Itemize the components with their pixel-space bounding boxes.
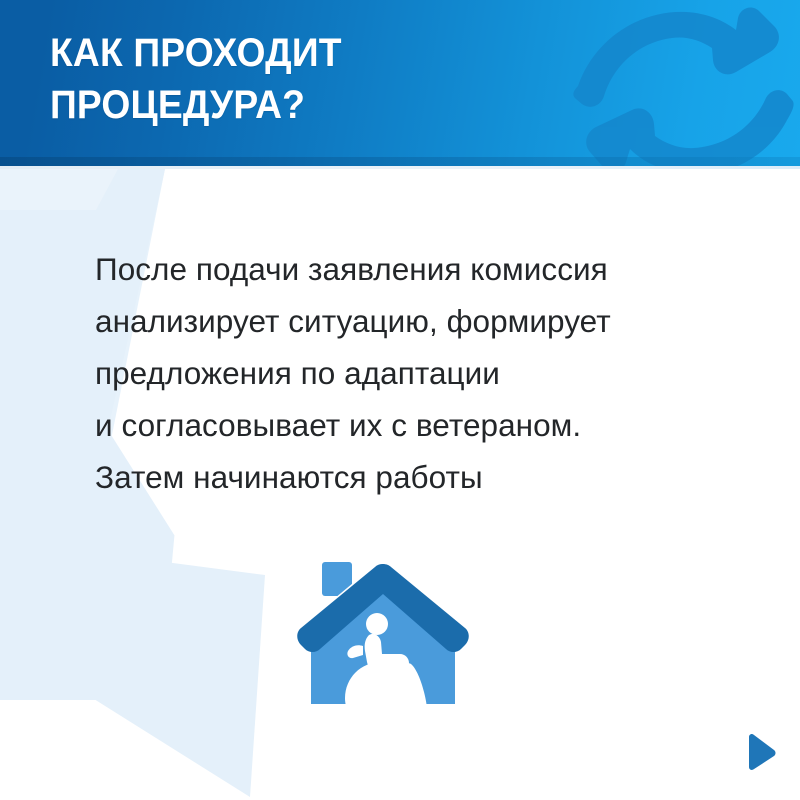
header-bottom-shade xyxy=(0,157,800,166)
body-paragraph: После подачи заявления комиссия анализир… xyxy=(95,243,715,503)
header-band: КАК ПРОХОДИТ ПРОЦЕДУРА? xyxy=(0,0,800,166)
page-title: КАК ПРОХОДИТ ПРОЦЕДУРА? xyxy=(50,27,534,131)
decor-notch-white xyxy=(150,497,265,800)
header-hairline xyxy=(0,166,800,169)
decor-wedge-bottom xyxy=(0,600,250,797)
accessible-house-icon xyxy=(297,552,469,714)
next-slide-button[interactable] xyxy=(742,732,778,772)
decor-sliver-top xyxy=(0,169,118,210)
decor-wedge-bottom-tail xyxy=(120,560,265,797)
slide-root: КАК ПРОХОДИТ ПРОЦЕДУРА? После подачи зая… xyxy=(0,0,800,800)
play-triangle-icon[interactable] xyxy=(749,734,776,770)
recycle-arrows-watermark-icon xyxy=(560,0,800,166)
